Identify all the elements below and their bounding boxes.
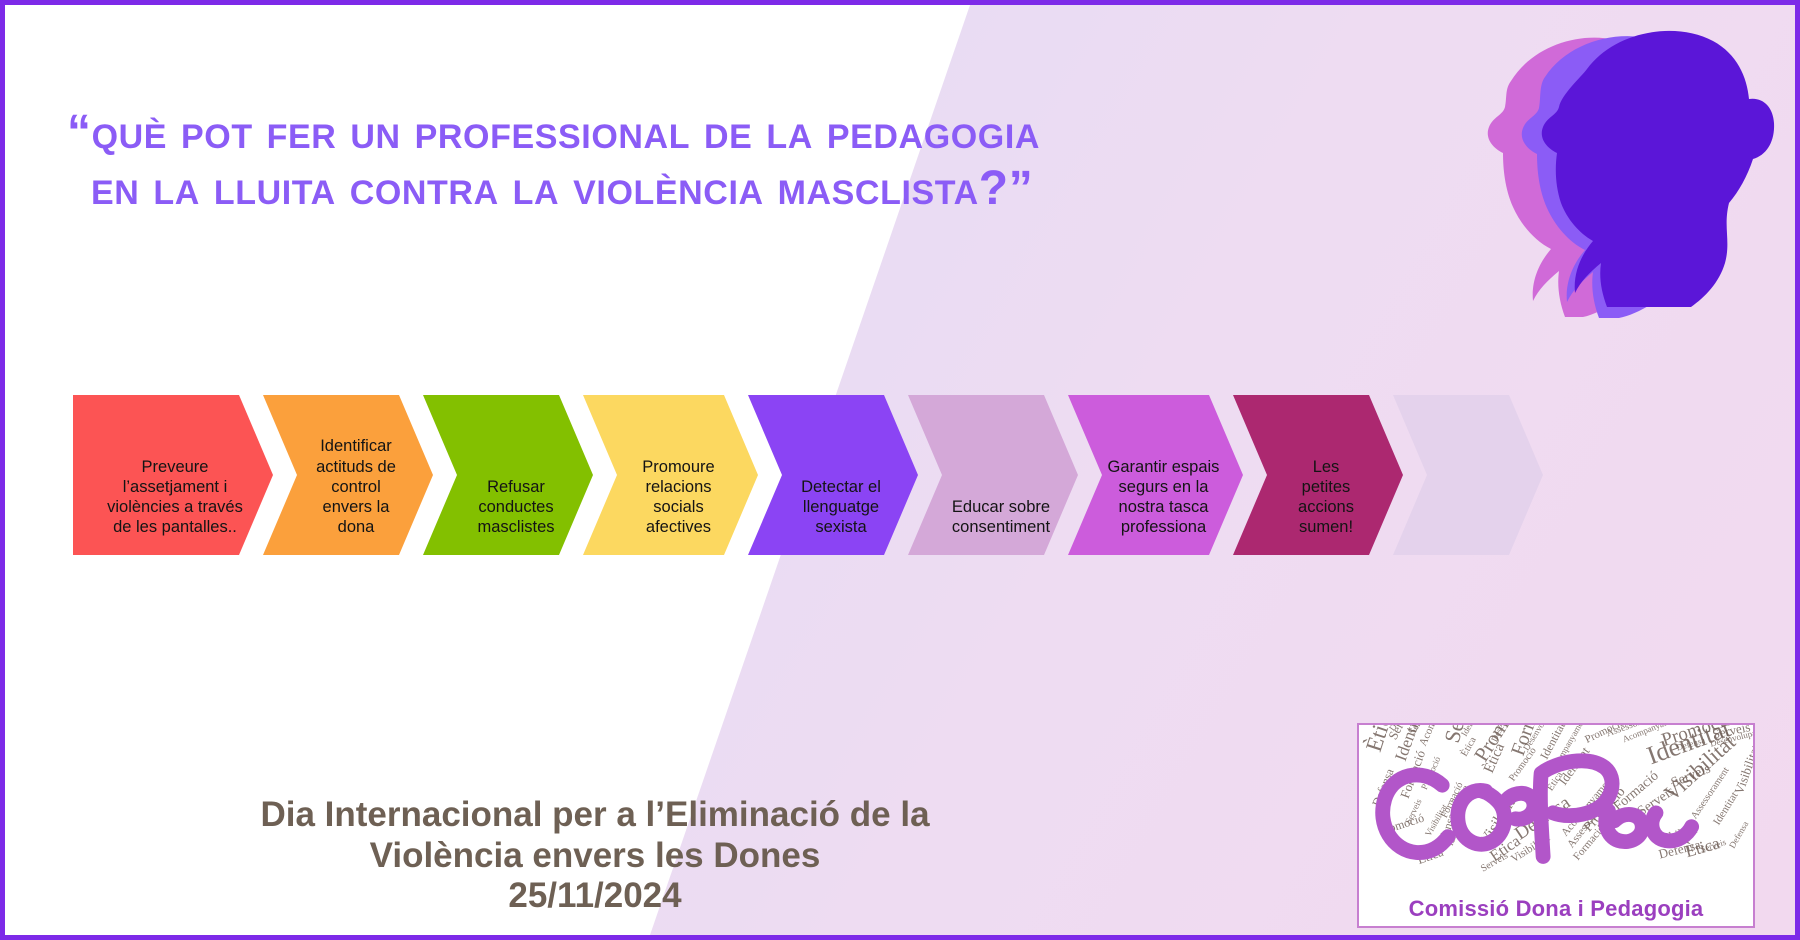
process-chevron-band: Preveure l’assetjament i violències a tr… xyxy=(73,395,1473,555)
process-step-6: Educar sobre consentiment xyxy=(908,395,1078,555)
event-caption: Dia Internacional per a l’Eliminació de … xyxy=(155,795,1035,917)
three-women-silhouettes xyxy=(1447,19,1777,319)
process-step-3: Refusar conductes masclistes xyxy=(423,395,593,555)
process-step-4: Promoure relacions socials afectives xyxy=(583,395,758,555)
process-step-label: Detectar el llenguatge sexista xyxy=(775,477,891,555)
word-cloud-term: Identitat xyxy=(1711,790,1741,827)
process-step-2: Identificar actituds de control envers l… xyxy=(263,395,433,555)
process-step-7: Garantir espais segurs en la nostra tasc… xyxy=(1068,395,1243,555)
title-line-2: en la lluita contra la violència masclis… xyxy=(67,161,1307,217)
caption-line-3: 25/11/2024 xyxy=(155,876,1035,917)
poster-title: “Què pot fer un professional de la pedag… xyxy=(67,105,1307,216)
process-step-label: Identificar actituds de control envers l… xyxy=(290,436,406,555)
title-line-1: “Què pot fer un professional de la pedag… xyxy=(67,105,1307,161)
process-step-8: Les petites accions sumen! xyxy=(1233,395,1403,555)
word-cloud-term: Defensa xyxy=(1369,767,1398,809)
process-step-1: Preveure l’assetjament i violències a tr… xyxy=(73,395,273,555)
process-step-label: Refusar conductes masclistes xyxy=(451,477,564,555)
copec-logo: ÈticaServeisIdentitatAcompanyamentServei… xyxy=(1357,723,1755,928)
process-step-label: Promoure relacions socials afectives xyxy=(616,457,724,556)
word-cloud-term: Promoció xyxy=(1377,811,1426,840)
process-step-label: Educar sobre consentiment xyxy=(926,497,1060,555)
poster-root: “Què pot fer un professional de la pedag… xyxy=(0,0,1800,940)
word-cloud-term: Defensa xyxy=(1727,819,1750,850)
logo-caption: Comissió Dona i Pedagogia xyxy=(1359,896,1753,922)
word-cloud-term: Ètica xyxy=(1415,844,1446,868)
process-step-5: Detectar el llenguatge sexista xyxy=(748,395,918,555)
process-step-label: Preveure l’assetjament i violències a tr… xyxy=(93,457,253,556)
process-step-label: Garantir espais segurs en la nostra tasc… xyxy=(1082,457,1230,556)
caption-line-1: Dia Internacional per a l’Eliminació de … xyxy=(155,795,1035,836)
caption-line-2: Violència envers les Dones xyxy=(155,836,1035,877)
logo-word-cloud: ÈticaServeisIdentitatAcompanyamentServei… xyxy=(1359,725,1753,875)
process-step-label: Les petites accions sumen! xyxy=(1272,457,1364,556)
